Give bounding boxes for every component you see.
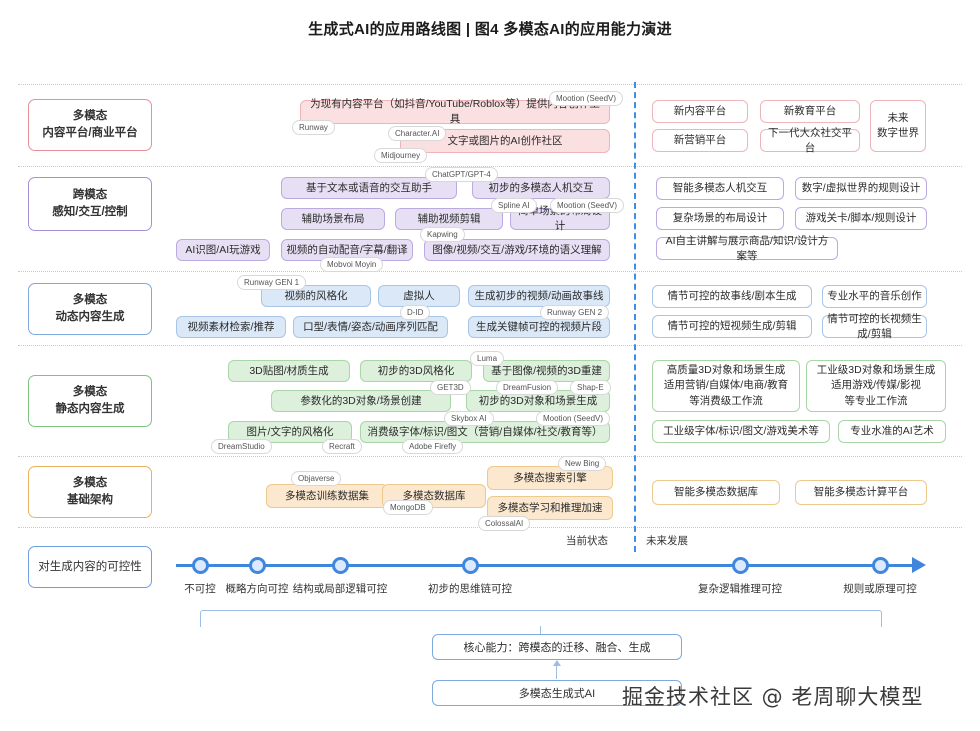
- box-row4-future-2[interactable]: 工业级3D对象和场景生成 适用游戏/传媒/影视 等专业工作流: [806, 360, 946, 412]
- sidebar-item-infrastructure[interactable]: 多模态 基础架构: [28, 466, 152, 518]
- tag-dreamstudio[interactable]: DreamStudio: [211, 439, 272, 454]
- sidebar-item-cross-modal[interactable]: 跨模态 感知/交互/控制: [28, 177, 152, 231]
- box-row3-current-4[interactable]: 视频素材检索/推荐: [176, 316, 286, 338]
- timeline-label-3: 结构或局部逻辑可控: [293, 581, 388, 596]
- tag-mongodb[interactable]: MongoDB: [383, 500, 433, 515]
- box-row1-future-4[interactable]: 新营销平台: [652, 129, 748, 152]
- sidebar-item-controllability[interactable]: 对生成内容的可控性: [28, 546, 152, 588]
- box-row2-current-8[interactable]: 图像/视频/交互/游戏/环境的语义理解: [424, 239, 610, 261]
- box-row2-future-4[interactable]: 游戏关卡/脚本/规则设计: [795, 207, 927, 230]
- box-row3-current-2[interactable]: 虚拟人: [378, 285, 460, 307]
- sidebar-item-static-content[interactable]: 多模态 静态内容生成: [28, 375, 152, 427]
- timeline-label-2: 概略方向可控: [226, 581, 289, 596]
- roadmap-diagram: 生成式AI的应用路线图 | 图4 多模态AI的应用能力演进 多模态 内容平台/商…: [0, 0, 980, 731]
- box-row3-future-3[interactable]: 情节可控的短视频生成/剪辑: [652, 315, 812, 338]
- tag-kapwing[interactable]: Kapwing: [420, 227, 465, 242]
- row-separator: [18, 84, 962, 85]
- timeline-axis: [176, 564, 916, 567]
- tag-midjourney[interactable]: Midjourney: [374, 148, 427, 163]
- timeline-dot-2[interactable]: [249, 557, 266, 574]
- page-title: 生成式AI的应用路线图 | 图4 多模态AI的应用能力演进: [0, 18, 980, 39]
- box-row4-future-1[interactable]: 高质量3D对象和场景生成 适用营销/自媒体/电商/教育 等消费级工作流: [652, 360, 800, 412]
- current-future-divider: [634, 82, 636, 552]
- tag-get3d[interactable]: GET3D: [430, 380, 471, 395]
- tag-runway-gen1[interactable]: Runway GEN 1: [237, 275, 306, 290]
- tag-mootion-seedv[interactable]: Mootion (SeedV): [550, 198, 624, 213]
- box-row5-future-1[interactable]: 智能多模态数据库: [652, 480, 780, 505]
- future-state-label: 未来发展: [646, 533, 688, 548]
- box-row5-current-1[interactable]: 多模态训练数据集: [266, 484, 388, 508]
- sidebar-item-dynamic-content[interactable]: 多模态 动态内容生成: [28, 283, 152, 335]
- sidebar-label-line1: 多模态: [73, 294, 108, 306]
- box-row1-future-3[interactable]: 未来 数字世界: [870, 100, 926, 152]
- up-arrow-icon: [553, 660, 561, 666]
- box-row4-future-3[interactable]: 工业级字体/标识/图文/游戏美术等: [652, 420, 830, 443]
- convergence-bracket: [200, 610, 882, 627]
- timeline-label-4: 初步的思维链可控: [428, 581, 512, 596]
- tag-chatgpt-gpt4[interactable]: ChatGPT/GPT-4: [425, 167, 498, 182]
- tag-skybox-ai[interactable]: Skybox AI: [444, 411, 494, 426]
- tag-luma[interactable]: Luma: [470, 351, 504, 366]
- box-row4-future-4[interactable]: 专业水准的AI艺术: [838, 420, 946, 443]
- box-row1-future-5[interactable]: 下一代大众社交平台: [760, 129, 860, 152]
- tag-colossalai[interactable]: ColossalAI: [478, 516, 530, 531]
- sidebar-item-content-platform[interactable]: 多模态 内容平台/商业平台: [28, 99, 152, 151]
- timeline-label-5: 复杂逻辑推理可控: [698, 581, 782, 596]
- timeline-dot-1[interactable]: [192, 557, 209, 574]
- sidebar-label-line2: 静态内容生成: [56, 403, 125, 415]
- sidebar-label-line2: 内容平台/商业平台: [42, 127, 137, 139]
- sidebar-label: 对生成内容的可控性: [38, 559, 142, 576]
- timeline-dot-6[interactable]: [872, 557, 889, 574]
- box-row2-current-3[interactable]: 辅助场景布局: [281, 208, 385, 230]
- tag-new-bing[interactable]: New Bing: [558, 456, 606, 471]
- sidebar-label-line2: 感知/交互/控制: [52, 206, 127, 218]
- row-separator: [18, 345, 962, 346]
- sidebar-label-line2: 动态内容生成: [56, 311, 125, 323]
- tag-runway[interactable]: Runway: [292, 120, 335, 135]
- tag-adobe-firefly[interactable]: Adobe Firefly: [402, 439, 463, 454]
- sidebar-label-line2: 基础架构: [67, 494, 113, 506]
- box-row4-current-4[interactable]: 参数化的3D对象/场景创建: [271, 390, 451, 412]
- box-row5-future-2[interactable]: 智能多模态计算平台: [795, 480, 927, 505]
- tag-dreamfusion[interactable]: DreamFusion: [496, 380, 558, 395]
- timeline-dot-3[interactable]: [332, 557, 349, 574]
- box-row2-future-5[interactable]: AI自主讲解与展示商品/知识/设计方案等: [656, 237, 838, 260]
- row-separator: [18, 456, 962, 457]
- box-row4-current-2[interactable]: 初步的3D风格化: [360, 360, 472, 382]
- timeline-dot-5[interactable]: [732, 557, 749, 574]
- box-row3-future-2[interactable]: 专业水平的音乐创作: [822, 285, 927, 308]
- sidebar-label-line1: 多模态: [73, 477, 108, 489]
- watermark: 掘金技术社区 @ 老周聊大模型: [622, 681, 923, 711]
- sidebar-label-line1: 多模态: [73, 386, 108, 398]
- current-state-label: 当前状态: [566, 533, 608, 548]
- timeline-arrow-icon: [912, 557, 926, 573]
- box-row2-current-6[interactable]: AI识图/AI玩游戏: [176, 239, 270, 261]
- box-row3-future-1[interactable]: 情节可控的故事线/剧本生成: [652, 285, 812, 308]
- box-row4-current-1[interactable]: 3D贴图/材质生成: [228, 360, 350, 382]
- sidebar-label-line1: 跨模态: [73, 189, 108, 201]
- tag-runway-gen2[interactable]: Runway GEN 2: [540, 305, 609, 320]
- timeline-dot-4[interactable]: [462, 557, 479, 574]
- tag-mootion-seedv[interactable]: Mootion (SeedV): [549, 91, 623, 106]
- row-separator: [18, 271, 962, 272]
- sidebar-label-line1: 多模态: [73, 110, 108, 122]
- tag-mootion-seedv[interactable]: Mootion (SeedV): [536, 411, 610, 426]
- box-row1-future-2[interactable]: 新教育平台: [760, 100, 860, 123]
- timeline-label-1: 不可控: [184, 581, 216, 596]
- box-row3-current-3[interactable]: 生成初步的视频/动画故事线: [468, 285, 610, 307]
- tag-spline-ai[interactable]: Spline AI: [491, 198, 537, 213]
- tag-objaverse[interactable]: Objaverse: [291, 471, 341, 486]
- box-row1-future-1[interactable]: 新内容平台: [652, 100, 748, 123]
- box-row2-future-3[interactable]: 复杂场景的布局设计: [656, 207, 784, 230]
- box-row2-future-1[interactable]: 智能多模态人机交互: [656, 177, 784, 200]
- tag-shap-e[interactable]: Shap-E: [570, 380, 611, 395]
- tag-mobvoi-moyin[interactable]: Mobvoi Moyin: [320, 257, 383, 272]
- box-row2-future-2[interactable]: 数字/虚拟世界的规则设计: [795, 177, 927, 200]
- timeline-label-6: 规则或原理可控: [843, 581, 917, 596]
- box-row3-future-4[interactable]: 情节可控的长视频生成/剪辑: [822, 315, 927, 338]
- tag-recraft[interactable]: Recraft: [322, 439, 362, 454]
- tag-character-ai[interactable]: Character.AI: [388, 126, 446, 141]
- core-capability-box[interactable]: 核心能力：跨模态的迁移、融合、生成: [432, 634, 682, 660]
- tag-d-id[interactable]: D-ID: [400, 305, 430, 320]
